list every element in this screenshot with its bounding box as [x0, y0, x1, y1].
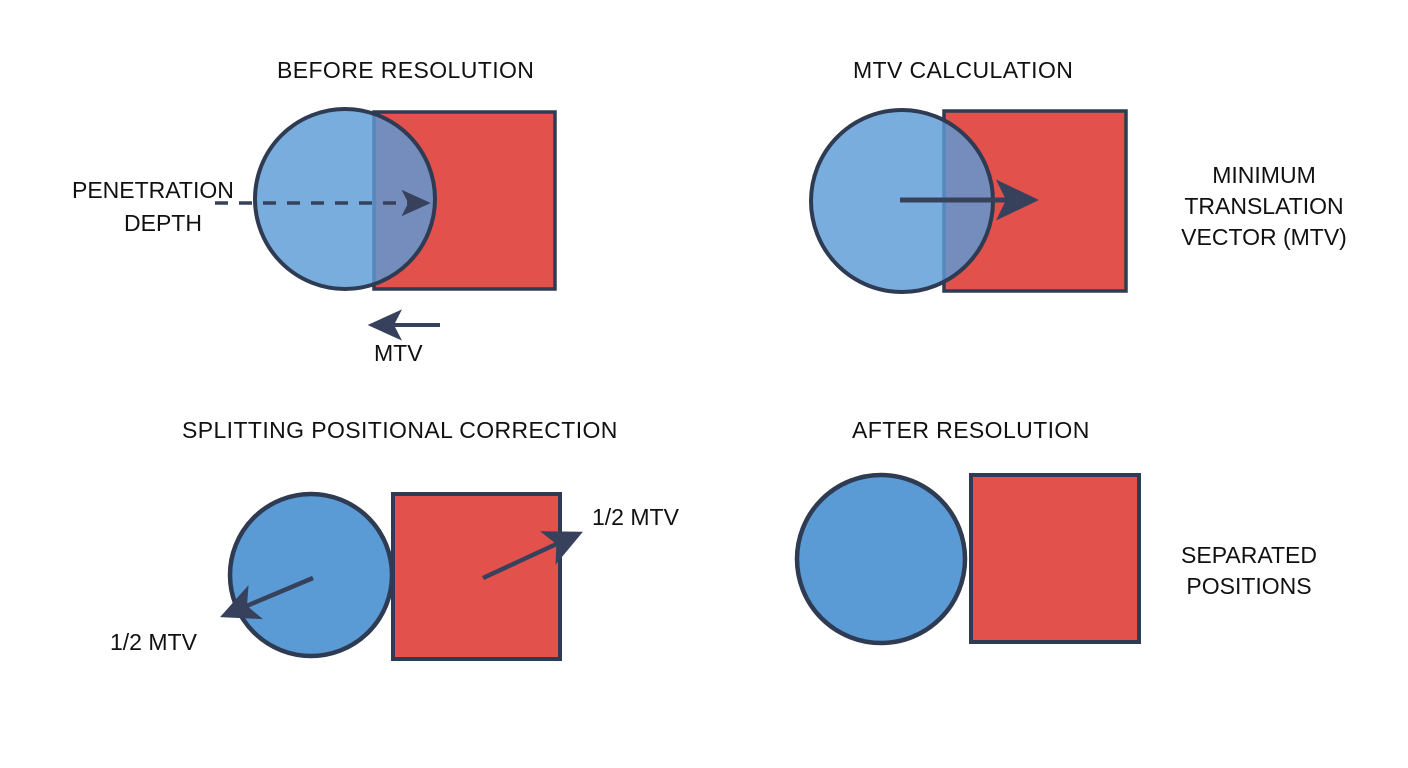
panel-splitting-positional-correction: SPLITTING POSITIONAL CORRECTION 1/2 MTV …: [0, 384, 704, 768]
mtv-side-label-line3: VECTOR (MTV): [1159, 222, 1369, 253]
panel-before-resolution: BEFORE RESOLUTION PENET: [0, 0, 704, 384]
red-square-after: [971, 475, 1139, 642]
separated-positions-line1: SEPARATED: [1144, 540, 1354, 571]
penetration-depth-label-line2: DEPTH: [124, 210, 202, 237]
mtv-label-before: MTV: [374, 340, 423, 367]
blue-circle-before: [255, 109, 435, 289]
mtv-side-label-line1: MINIMUM: [1159, 160, 1369, 191]
mtv-side-label-line2: TRANSLATION: [1159, 191, 1369, 222]
panel-after-resolution: AFTER RESOLUTION SEPARATED POSITIONS: [704, 384, 1408, 768]
blue-circle-after: [797, 475, 965, 643]
half-mtv-label-right: 1/2 MTV: [592, 504, 679, 531]
half-mtv-label-left: 1/2 MTV: [110, 629, 197, 656]
diagram-canvas: BEFORE RESOLUTION PENET: [0, 0, 1408, 768]
panel-mtv-calculation: MTV CALCULATION MINIMUM TRANSLATION VECT…: [704, 0, 1408, 384]
penetration-depth-label-line1: PENETRATION: [72, 177, 234, 204]
blue-circle-splitting: [230, 494, 392, 656]
red-square-splitting: [393, 494, 560, 659]
figure-splitting-positional-correction: [0, 384, 704, 768]
mtv-side-label: MINIMUM TRANSLATION VECTOR (MTV): [1159, 160, 1369, 253]
separated-positions-line2: POSITIONS: [1144, 571, 1354, 602]
separated-positions-label: SEPARATED POSITIONS: [1144, 540, 1354, 602]
